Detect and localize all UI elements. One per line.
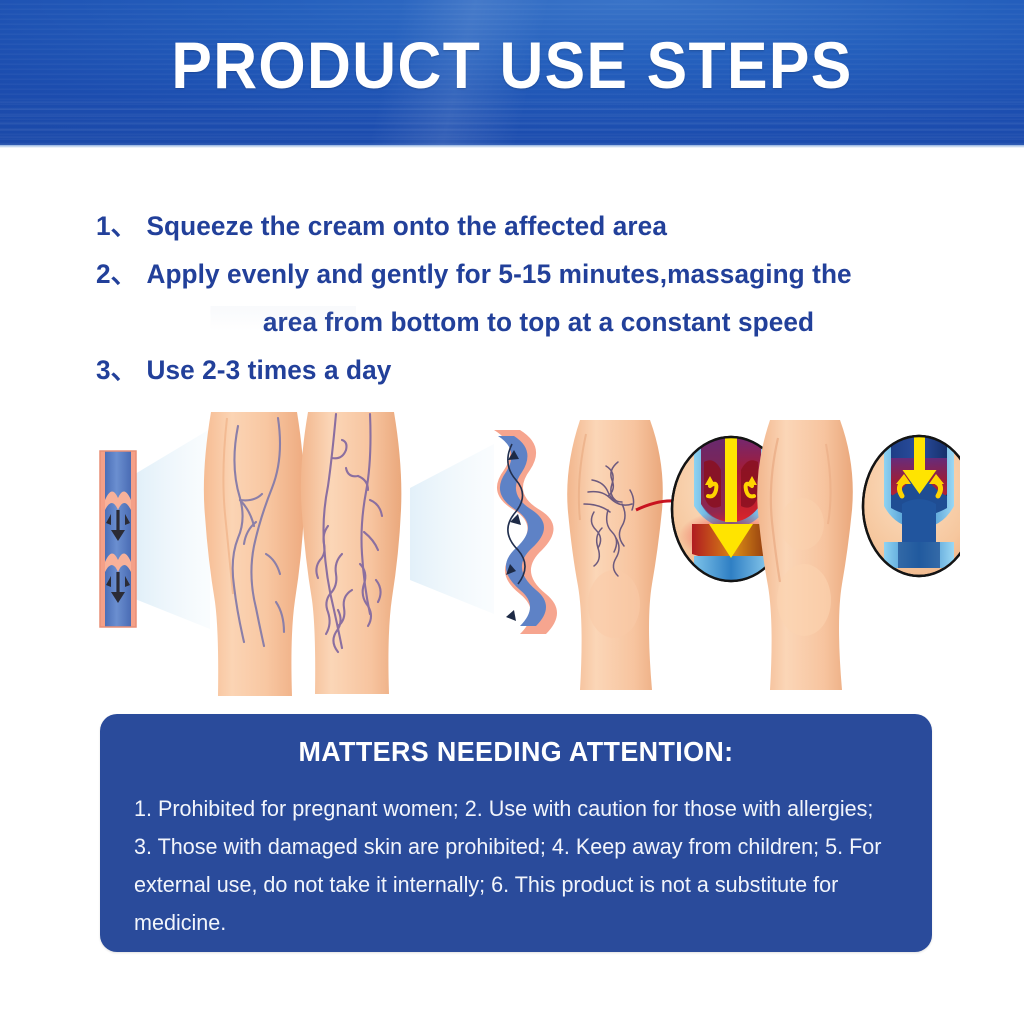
step-text-1: Squeeze the cream onto the affected area	[146, 211, 667, 241]
page-title: PRODUCT USE STEPS	[41, 27, 983, 103]
step-text-3: Use 2-3 times a day	[146, 355, 391, 385]
banner-underline	[0, 145, 1024, 148]
step-item-3: 3、Use 2-3 times a day	[96, 346, 950, 394]
varicose-leg	[301, 412, 402, 694]
clear-leg	[757, 420, 853, 690]
closed-valve-inset	[863, 434, 960, 576]
spider-vein-leg	[567, 420, 694, 690]
panel-healed-leg	[757, 420, 960, 690]
infographic-page: PRODUCT USE STEPS 1、Squeeze the cream on…	[0, 0, 1024, 1024]
step-number-3: 3、	[96, 346, 146, 394]
step-text-2: Apply evenly and gently for 5-15 minutes…	[146, 259, 851, 289]
panel-spider-vein-leg	[567, 420, 790, 690]
step-text-2-continuation: area from bottom to top at a constant sp…	[96, 298, 950, 346]
vein-cross-section-strip	[100, 451, 136, 627]
twisted-vein-section	[494, 430, 557, 634]
vein-lumen	[498, 436, 546, 626]
attention-body: 1. Prohibited for pregnant women; 2. Use…	[134, 790, 887, 942]
magnifier-cone	[410, 444, 494, 614]
step-item-1: 1、Squeeze the cream onto the affected ar…	[96, 202, 950, 250]
attention-title: MATTERS NEEDING ATTENTION:	[117, 736, 916, 768]
illustration-band	[80, 404, 960, 704]
panel-varicose-vein	[301, 412, 557, 694]
steps-list: 1、Squeeze the cream onto the affected ar…	[96, 202, 950, 394]
banner-ripple	[0, 99, 1024, 145]
healthy-leg	[204, 412, 305, 696]
step-item-2: 2、Apply evenly and gently for 5-15 minut…	[96, 250, 950, 298]
panel-healthy-vein	[100, 412, 304, 696]
attention-box: MATTERS NEEDING ATTENTION: 1. Prohibited…	[100, 714, 932, 952]
header-banner: PRODUCT USE STEPS	[0, 0, 1024, 145]
step-number-1: 1、	[96, 202, 146, 250]
magnifier-cone	[135, 429, 210, 629]
step-number-2: 2、	[96, 250, 146, 298]
